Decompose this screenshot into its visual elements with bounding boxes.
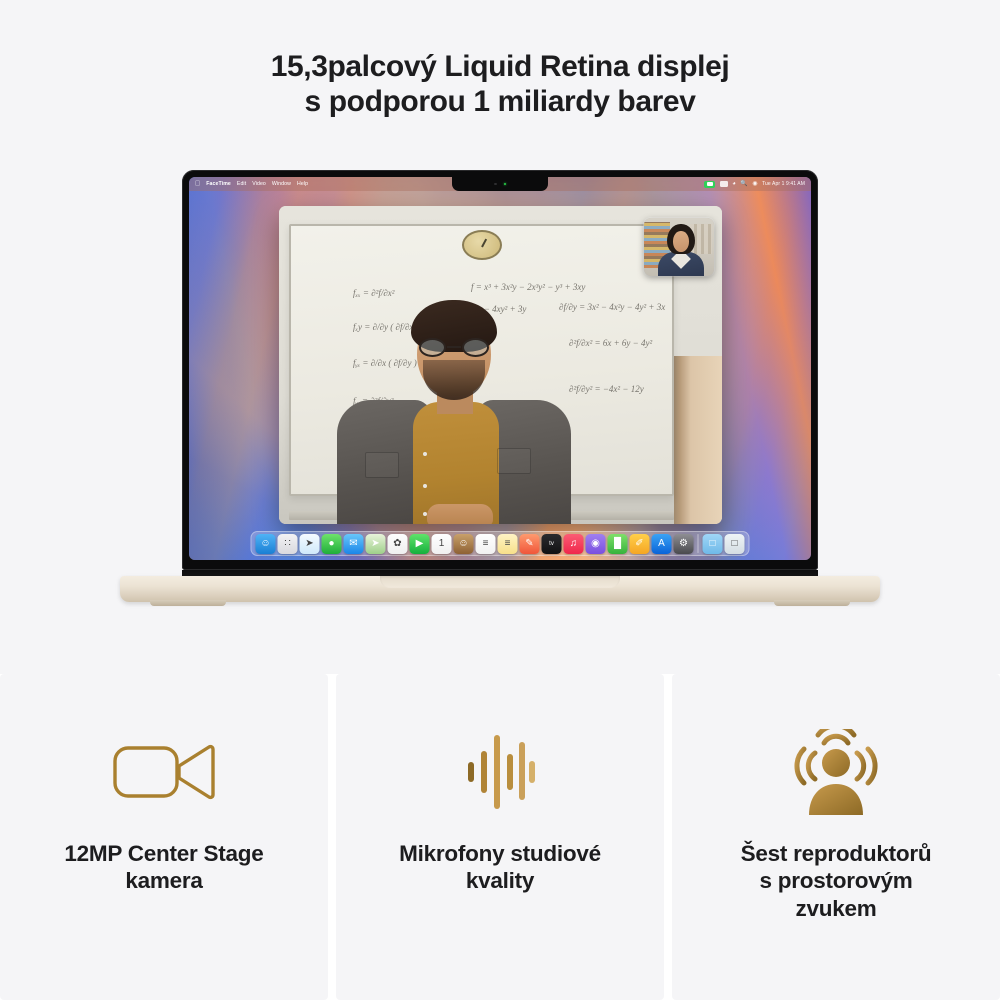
feature-label-line-1: Mikrofony studiové — [399, 841, 601, 866]
webcam-icon — [494, 183, 496, 185]
wifi-icon[interactable]: ◕ — [732, 181, 736, 187]
jacket-pocket-right — [497, 448, 531, 474]
camera-indicator-light — [504, 183, 506, 185]
dock-item-app-store[interactable]: A — [652, 534, 672, 554]
safari-icon: ➤ — [305, 539, 313, 549]
system-settings-icon: ⚙ — [679, 539, 688, 549]
feature-label-line-3: zvukem — [795, 896, 876, 921]
hero-section: 15,3palcový Liquid Retina displej s podp… — [0, 0, 1000, 674]
jacket-button — [423, 484, 427, 488]
facetime-icon: ▶ — [416, 539, 424, 549]
laptop-foot-left — [150, 600, 226, 606]
feature-card-microphones: Mikrofony studiové kvality — [336, 674, 664, 1000]
feature-label-line-1: Šest reproduktorů — [741, 841, 932, 866]
control-center-icon[interactable] — [720, 181, 728, 187]
laptop-foot-right — [774, 600, 850, 606]
app-store-icon: A — [658, 539, 665, 549]
dock-item-numbers[interactable]: █ — [608, 534, 628, 554]
notes-icon: ≡ — [505, 539, 511, 549]
apple-logo-icon[interactable]:  — [195, 180, 200, 187]
display-notch — [452, 177, 548, 191]
dock-item-finder[interactable]: ☺ — [256, 534, 276, 554]
feature-card-label: 12MP Center Stage kamera — [64, 840, 263, 895]
numbers-icon: █ — [614, 539, 621, 549]
spatial-audio-person-icon — [791, 730, 881, 814]
dock-item-system-settings[interactable]: ⚙ — [674, 534, 694, 554]
beard — [423, 360, 485, 400]
glasses-bridge — [447, 346, 461, 348]
hands — [427, 504, 493, 524]
pages-icon: ✐ — [635, 539, 643, 549]
dock-item-photos[interactable]: ✿ — [388, 534, 408, 554]
facetime-video-feed: f = x³ + 3x²y − 2x³y² − y³ + 3xy = 3x² +… — [279, 206, 722, 524]
eyeglasses-icon — [419, 338, 489, 357]
feature-card-speakers: Šest reproduktorů s prostorovým zvukem — [672, 674, 1000, 1000]
laptop-screen: f = x³ + 3x²y − 2x³y² − y³ + 3xy = 3x² +… — [189, 177, 811, 560]
search-icon[interactable]: 🔍 — [740, 181, 747, 187]
menu-bar-status-items: ◕ 🔍 ◉ Tue Apr 1 9:41 AM — [704, 181, 805, 188]
messages-icon: ● — [328, 539, 334, 549]
trash-icon: □ — [731, 539, 737, 549]
reminders-icon: ≡ — [483, 539, 489, 549]
dock-item-messages[interactable]: ● — [322, 534, 342, 554]
dock-item-launchpad[interactable]: ∷ — [278, 534, 298, 554]
facetime-pip-self-view[interactable] — [644, 218, 714, 276]
launchpad-icon: ∷ — [284, 539, 290, 549]
feature-cards-row: 12MP Center Stage kamera Mikrofony studi… — [0, 674, 1000, 1000]
dock-item-contacts[interactable]: ☺ — [454, 534, 474, 554]
music-icon: ♫ — [570, 539, 578, 549]
menu-item-window[interactable]: Window — [272, 181, 291, 187]
contacts-icon: ☺ — [458, 539, 468, 549]
dock-item-reminders[interactable]: ≡ — [476, 534, 496, 554]
siri-icon[interactable]: ◉ — [752, 181, 757, 187]
dock-item-podcasts[interactable]: ◉ — [586, 534, 606, 554]
apple-tv-icon: tv — [549, 541, 554, 547]
menu-item-edit[interactable]: Edit — [237, 181, 246, 187]
laptop-bezel: f = x³ + 3x²y − 2x³y² − y³ + 3xy = 3x² +… — [189, 177, 811, 560]
facetime-main-participant — [331, 302, 591, 524]
dock-item-apple-tv[interactable]: tv — [542, 534, 562, 554]
dock-item-calendar[interactable]: 1 — [432, 534, 452, 554]
dock-item-freeform[interactable]: ✎ — [520, 534, 540, 554]
menu-bar-clock[interactable]: Tue Apr 1 9:41 AM — [762, 181, 805, 187]
equation-text: fₓₓ = ∂²f/∂x² — [353, 288, 394, 298]
lens-left — [419, 338, 446, 357]
macos-dock[interactable]: ☺∷➤●✉➤✿▶1☺≡≡✎tv♫◉█✐A⚙□□ — [251, 531, 750, 556]
menu-item-app-name[interactable]: FaceTime — [206, 181, 231, 187]
menu-item-help[interactable]: Help — [297, 181, 308, 187]
dock-separator — [698, 534, 699, 553]
dock-item-downloads-folder[interactable]: □ — [703, 534, 723, 554]
downloads-folder-icon: □ — [709, 539, 715, 549]
audio-waveform-icon — [465, 730, 535, 814]
laptop-front-notch — [380, 576, 620, 588]
jacket-pocket-left — [365, 452, 399, 478]
calendar-icon: 1 — [439, 539, 445, 549]
page-title: 15,3palcový Liquid Retina displej s podp… — [0, 50, 1000, 120]
video-camera-icon — [112, 730, 216, 814]
dock-item-facetime[interactable]: ▶ — [410, 534, 430, 554]
feature-card-label: Šest reproduktorů s prostorovým zvukem — [741, 840, 932, 922]
photos-icon: ✿ — [393, 539, 401, 549]
laptop-lid: f = x³ + 3x²y − 2x³y² − y³ + 3xy = 3x² +… — [182, 170, 818, 570]
camera-active-badge-icon[interactable] — [704, 181, 715, 188]
door-frame — [674, 356, 722, 524]
feature-label-line-1: 12MP Center Stage — [64, 841, 263, 866]
dock-item-notes[interactable]: ≡ — [498, 534, 518, 554]
dock-item-pages[interactable]: ✐ — [630, 534, 650, 554]
page-title-line-2: s podporou 1 miliardy barev — [0, 85, 1000, 120]
dock-item-mail[interactable]: ✉ — [344, 534, 364, 554]
feature-card-camera: 12MP Center Stage kamera — [0, 674, 328, 1000]
podcasts-icon: ◉ — [591, 539, 600, 549]
feature-label-line-2: kvality — [466, 868, 534, 893]
macbook-air-product-image: f = x³ + 3x²y − 2x³y² − y³ + 3xy = 3x² +… — [120, 170, 880, 620]
menu-item-video[interactable]: Video — [252, 181, 266, 187]
feature-card-label: Mikrofony studiové kvality — [399, 840, 601, 895]
feature-label-line-2: kamera — [125, 868, 202, 893]
pip-participant-face — [673, 231, 689, 252]
dock-item-safari[interactable]: ➤ — [300, 534, 320, 554]
mail-icon: ✉ — [349, 539, 357, 549]
menu-bar-left:  FaceTime Edit Video Window Help — [195, 181, 308, 188]
dock-item-music[interactable]: ♫ — [564, 534, 584, 554]
freeform-icon: ✎ — [525, 539, 533, 549]
maps-icon: ➤ — [371, 539, 379, 549]
lens-right — [462, 338, 489, 357]
finder-icon: ☺ — [260, 539, 270, 549]
facetime-window[interactable]: f = x³ + 3x²y − 2x³y² − y³ + 3xy = 3x² +… — [279, 206, 722, 524]
jacket-button — [423, 452, 427, 456]
dock-item-maps[interactable]: ➤ — [366, 534, 386, 554]
page-title-line-1: 15,3palcový Liquid Retina displej — [271, 50, 730, 83]
equation-text: f = x³ + 3x²y − 2x³y² − y³ + 3xy — [471, 282, 585, 292]
wall-clock-icon — [462, 230, 502, 260]
dock-item-trash[interactable]: □ — [725, 534, 745, 554]
feature-label-line-2: s prostorovým — [759, 868, 912, 893]
